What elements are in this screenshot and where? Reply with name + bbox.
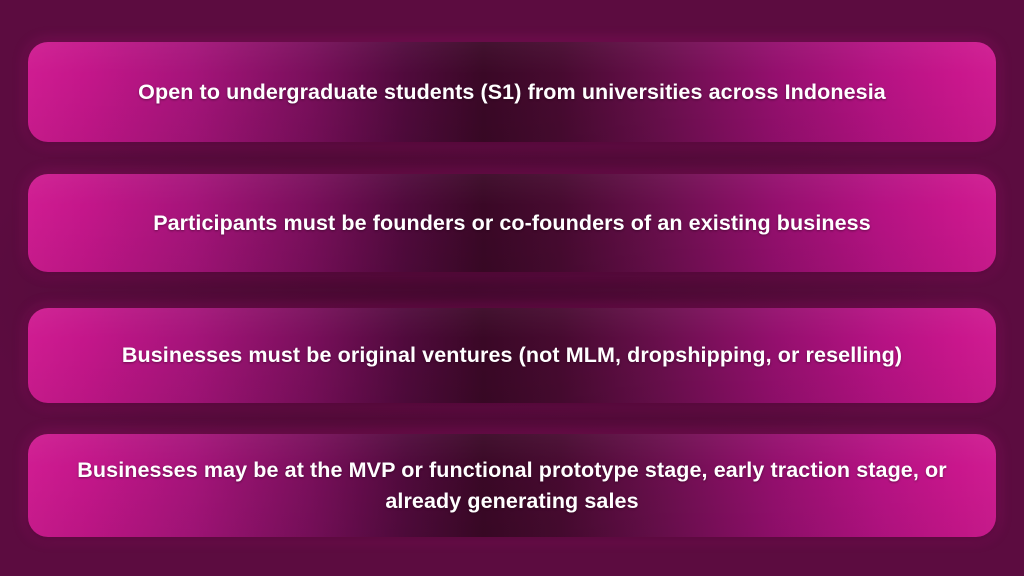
criteria-card-3[interactable]: Businesses must be original ventures (no… <box>28 308 996 403</box>
criteria-card-4[interactable]: Businesses may be at the MVP or function… <box>28 434 996 537</box>
criteria-card-2-text: Participants must be founders or co-foun… <box>119 208 905 239</box>
slide-canvas: Open to undergraduate students (S1) from… <box>0 0 1024 576</box>
criteria-card-1-text: Open to undergraduate students (S1) from… <box>104 77 920 108</box>
criteria-card-1[interactable]: Open to undergraduate students (S1) from… <box>28 42 996 142</box>
criteria-card-3-text: Businesses must be original ventures (no… <box>88 340 936 371</box>
criteria-card-4-text: Businesses may be at the MVP or function… <box>28 455 996 516</box>
criteria-card-stack: Open to undergraduate students (S1) from… <box>28 42 996 537</box>
criteria-card-2[interactable]: Participants must be founders or co-foun… <box>28 174 996 272</box>
